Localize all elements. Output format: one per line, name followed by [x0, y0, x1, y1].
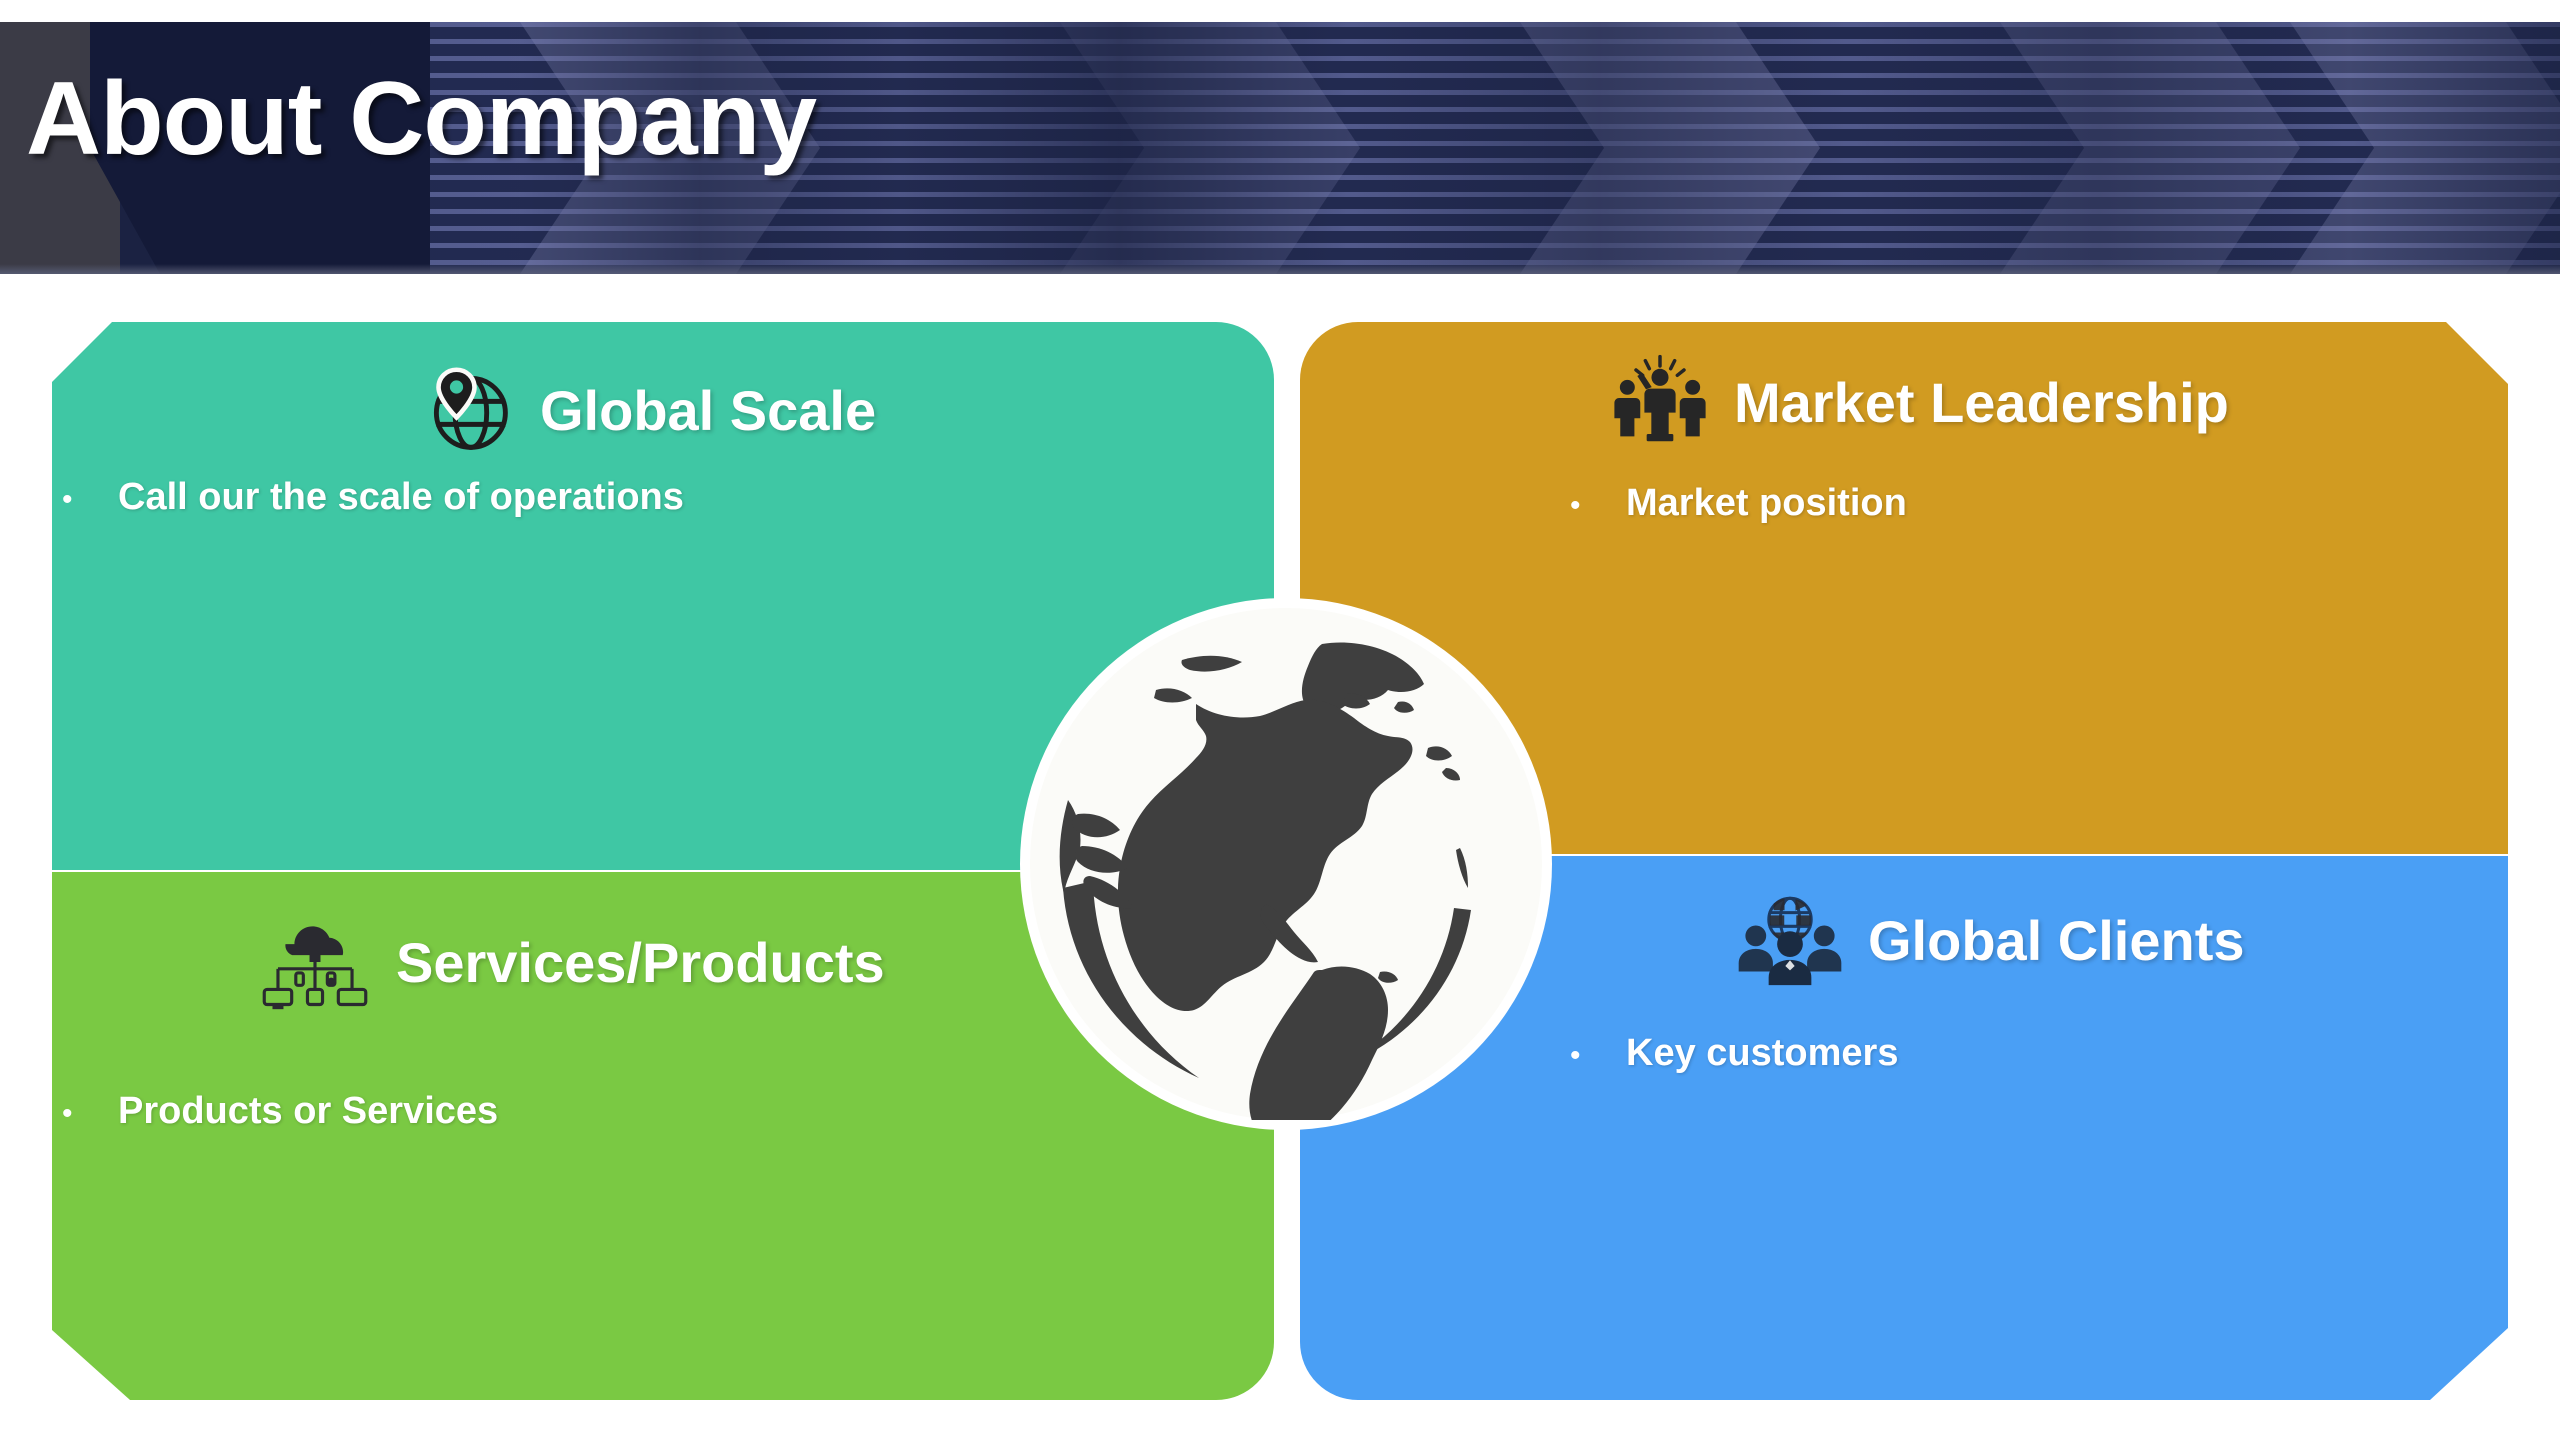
people-globe-group-icon — [1738, 894, 1842, 986]
card-services-products-header: Services/Products — [260, 914, 885, 1010]
header-bottom-shadow — [0, 264, 2560, 274]
card-market-leadership-title: Market Leadership — [1734, 370, 2229, 435]
card-global-clients-title: Global Clients — [1868, 908, 2245, 973]
bullet-label: Key customers — [1626, 1032, 1898, 1075]
bullet-marker: • — [1570, 1041, 1626, 1071]
leadership-podium-people-icon — [1612, 354, 1708, 450]
card-market-leadership-header: Market Leadership — [1612, 354, 2229, 450]
bullet-label: Market position — [1626, 482, 1907, 525]
slide-canvas: About Company Global Scale • Cal — [0, 0, 2560, 1442]
globe-location-pin-icon — [422, 364, 514, 456]
bullet-marker: • — [62, 485, 118, 515]
card-services-products-bullet: • Products or Services — [62, 1090, 498, 1133]
cloud-network-devices-icon — [260, 914, 370, 1010]
bullet-marker: • — [62, 1099, 118, 1129]
card-global-clients-bullet: • Key customers — [1570, 1032, 1898, 1075]
card-global-scale-header: Global Scale — [422, 364, 876, 456]
bullet-label: Call our the scale of operations — [118, 476, 684, 519]
bullet-label: Products or Services — [118, 1090, 498, 1133]
earth-globe-illustration — [1030, 608, 1542, 1120]
card-global-clients-header: Global Clients — [1738, 894, 2245, 986]
card-market-leadership-bullet: • Market position — [1570, 482, 1907, 525]
card-services-products-title: Services/Products — [396, 930, 885, 995]
card-global-scale-title: Global Scale — [540, 378, 876, 443]
card-global-scale-bullet: • Call our the scale of operations — [62, 476, 684, 519]
page-title: About Company — [26, 60, 816, 179]
bullet-marker: • — [1570, 491, 1626, 521]
